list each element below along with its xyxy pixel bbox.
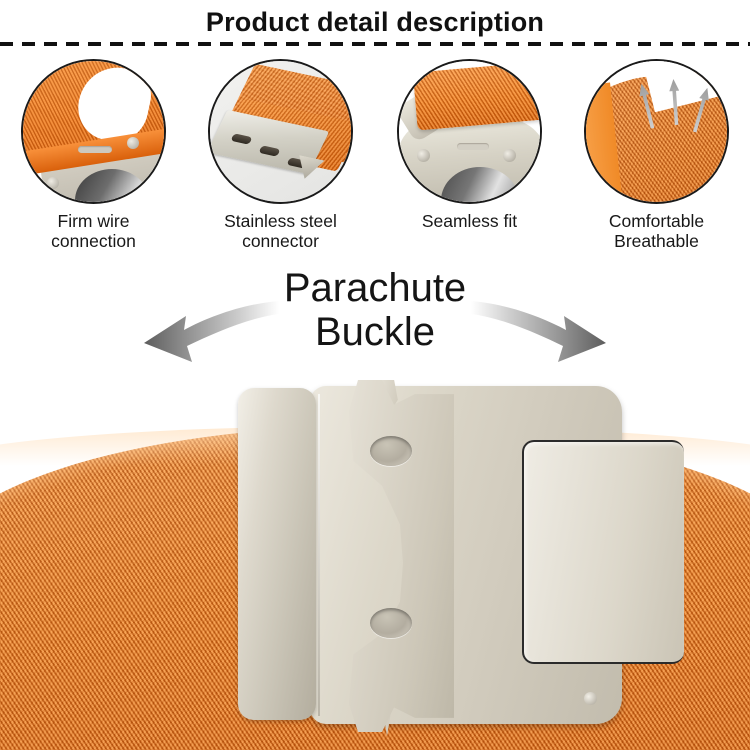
parachute-buckle bbox=[232, 380, 632, 750]
buckle-seam bbox=[318, 394, 320, 716]
feature-label-line2: connection bbox=[0, 231, 187, 251]
section-heading-line1: Parachute bbox=[0, 266, 750, 310]
buckle-hole-lower bbox=[370, 608, 412, 638]
buckle-left-tongue bbox=[238, 388, 316, 720]
feature-label-line2: Breathable bbox=[563, 231, 750, 251]
feature-label-seamless-fit: Seamless fit bbox=[376, 211, 563, 231]
section-heading: Parachute Buckle bbox=[0, 266, 750, 354]
feature-label-line1: Stainless steel bbox=[187, 211, 374, 231]
buckle-face-panel bbox=[522, 440, 684, 664]
feature-item-comfortable-breathable[interactable]: Comfortable Breathable bbox=[563, 56, 750, 251]
product-detail-page: Product detail description Firm w bbox=[0, 0, 750, 750]
feature-label-comfortable-breathable: Comfortable Breathable bbox=[563, 211, 750, 251]
buckle-hole-upper bbox=[370, 436, 412, 466]
curved-arrow-left-icon bbox=[140, 296, 280, 368]
feature-thumbnail-seamless-fit bbox=[397, 59, 542, 204]
feature-label-line2: connector bbox=[187, 231, 374, 251]
feature-label-line1: Seamless fit bbox=[376, 211, 563, 231]
feature-label-line1: Firm wire bbox=[0, 211, 187, 231]
feature-label-line1: Comfortable bbox=[563, 211, 750, 231]
feature-label-stainless-steel-connector: Stainless steel connector bbox=[187, 211, 374, 251]
feature-thumbnail-comfortable-breathable bbox=[584, 59, 729, 204]
product-photo bbox=[0, 380, 750, 750]
feature-item-stainless-steel-connector[interactable]: Stainless steel connector bbox=[187, 56, 374, 251]
buckle-screw bbox=[584, 692, 597, 705]
feature-item-firm-wire-connection[interactable]: Firm wire connection bbox=[0, 56, 187, 251]
page-title: Product detail description bbox=[0, 2, 750, 42]
feature-thumbnail-firm-wire-connection bbox=[21, 59, 166, 204]
curved-arrow-right-icon bbox=[470, 296, 610, 368]
section-heading-line2: Buckle bbox=[0, 310, 750, 354]
feature-label-firm-wire-connection: Firm wire connection bbox=[0, 211, 187, 251]
feature-item-seamless-fit[interactable]: Seamless fit bbox=[376, 56, 563, 251]
feature-row: Firm wire connection Stainless ste bbox=[0, 56, 750, 251]
feature-thumbnail-stainless-steel-connector bbox=[208, 59, 353, 204]
header-dashed-divider bbox=[0, 42, 750, 46]
